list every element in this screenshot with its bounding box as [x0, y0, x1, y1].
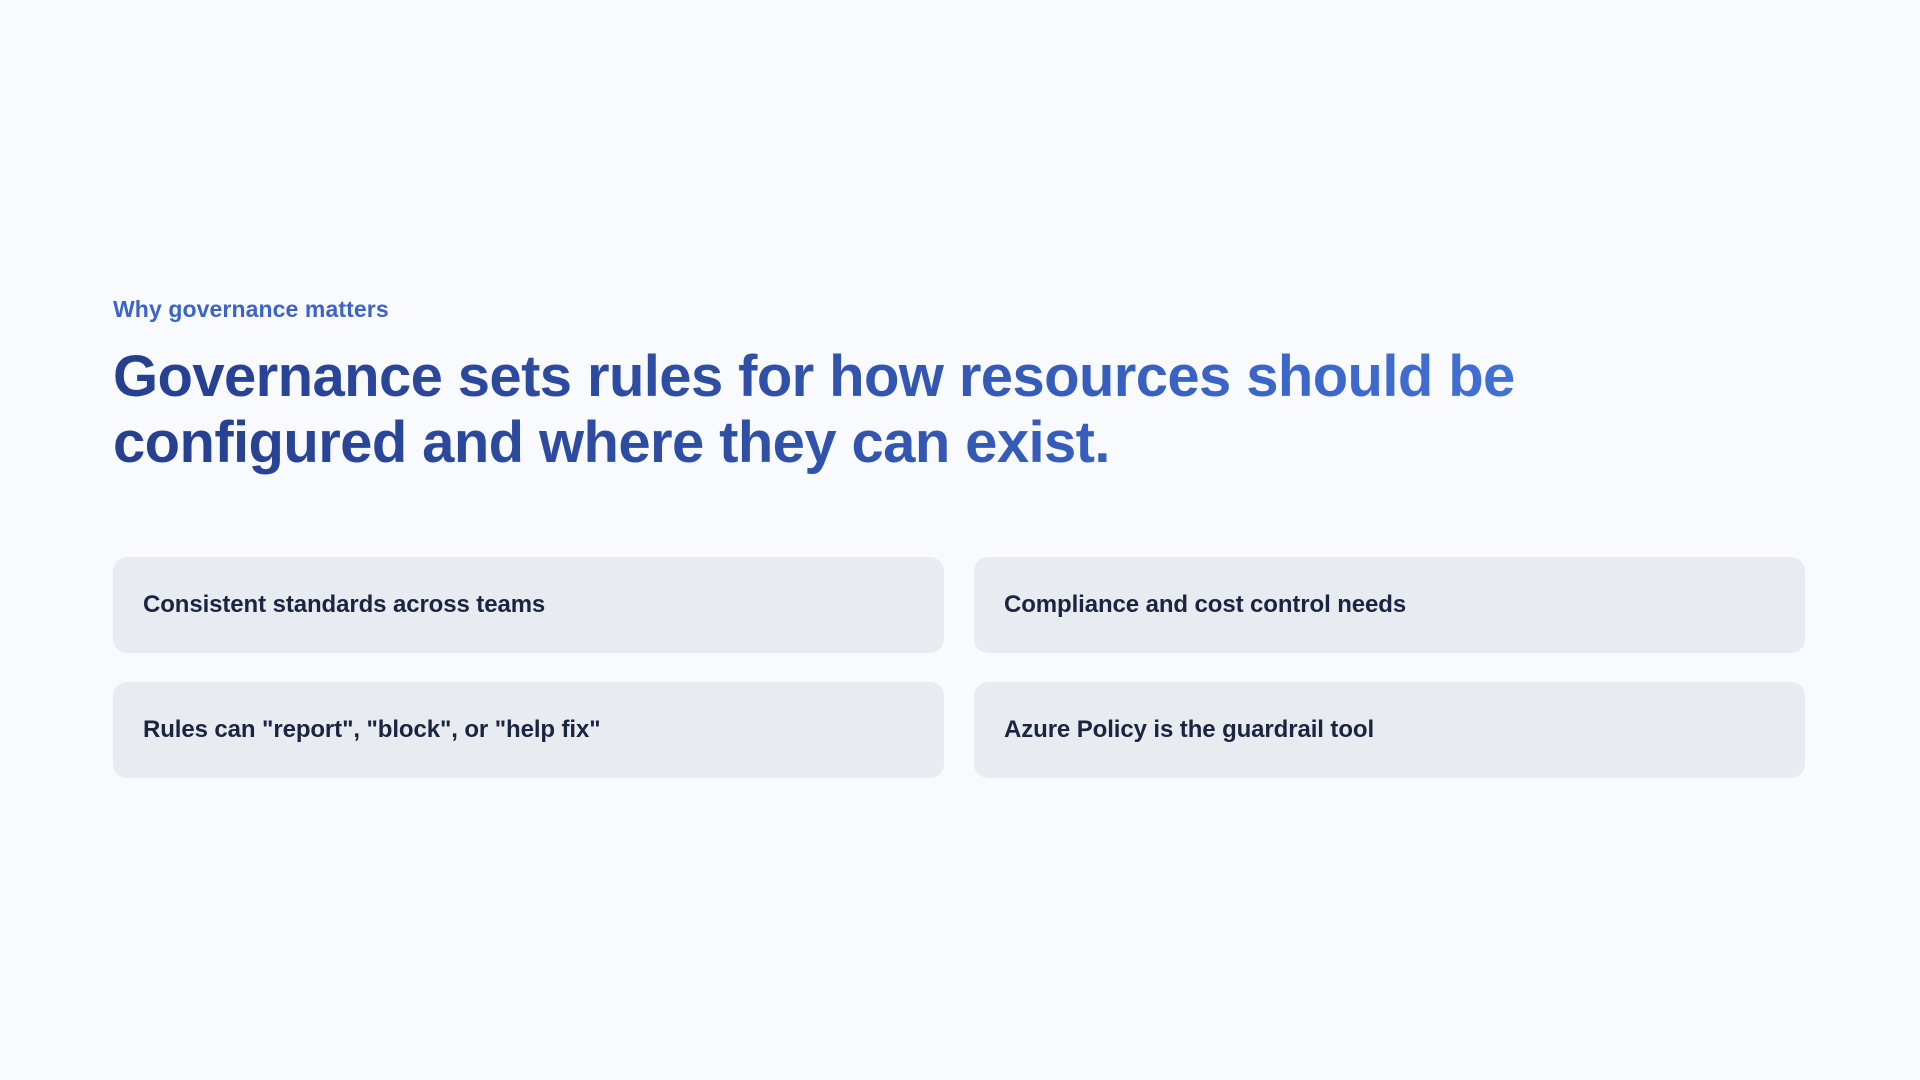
key-point-label: Azure Policy is the guardrail tool [1004, 715, 1374, 745]
slide-eyebrow: Why governance matters [113, 296, 1807, 324]
slide-canvas: Why governance matters Governance sets r… [0, 0, 1920, 1080]
slide-header-block: Why governance matters Governance sets r… [113, 296, 1807, 476]
key-point-label: Rules can "report", "block", or "help fi… [143, 715, 601, 745]
key-point-card: Rules can "report", "block", or "help fi… [113, 682, 944, 778]
key-point-label: Consistent standards across teams [143, 590, 545, 620]
slide-headline: Governance sets rules for how resources … [113, 344, 1753, 476]
key-point-card: Consistent standards across teams [113, 557, 944, 653]
key-point-card: Azure Policy is the guardrail tool [974, 682, 1805, 778]
key-point-card: Compliance and cost control needs [974, 557, 1805, 653]
key-point-label: Compliance and cost control needs [1004, 590, 1406, 620]
key-points-grid: Consistent standards across teams Compli… [113, 557, 1805, 778]
